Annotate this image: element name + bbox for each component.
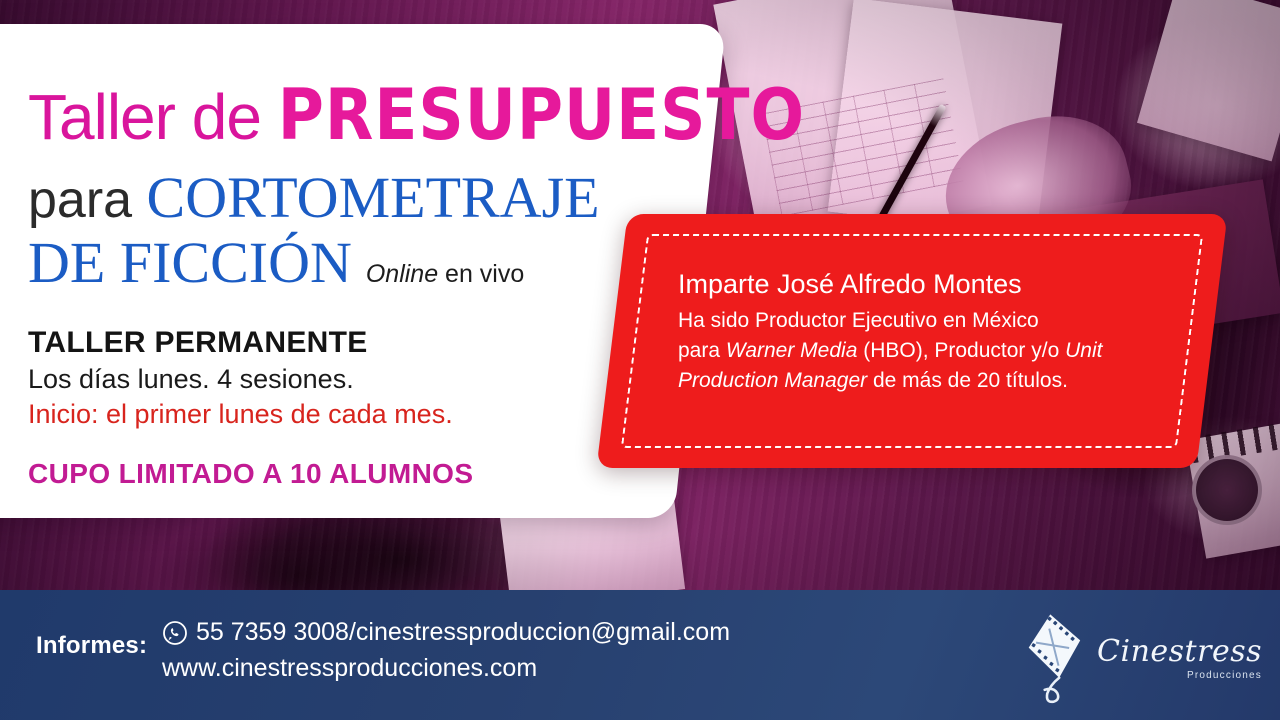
workshop-details: TALLER PERMANENTE Los días lunes. 4 sesi… xyxy=(28,324,473,490)
poster-banner: Taller de PRESUPUESTO para CORTOMETRAJE … xyxy=(0,0,1280,720)
kite-film-strip-icon xyxy=(1019,608,1091,709)
contact-phone[interactable]: 55 7359 3008 xyxy=(196,615,349,651)
title-online: Online xyxy=(366,260,438,288)
instructor-name: Imparte José Alfredo Montes xyxy=(678,268,1146,300)
title-cortometraje: CORTOMETRAJE xyxy=(147,165,600,230)
logo-subtitle: Producciones xyxy=(1097,670,1262,681)
title-taller-de: Taller de xyxy=(28,81,278,153)
detail-dias-sesiones: Los días lunes. 4 sesiones. xyxy=(28,362,473,397)
instructor-bio-titulos: de más de 20 títulos. xyxy=(867,369,1068,392)
cinestress-logo[interactable]: Cinestress Producciones xyxy=(1019,608,1262,709)
footer-bar: Informes: 55 7359 3008 / cinestressprodu… xyxy=(0,590,1280,720)
instructor-bio-production-manager: Production Manager xyxy=(678,369,867,392)
contact-info: 55 7359 3008 / cinestressproduccion@gmai… xyxy=(162,615,730,686)
instructor-bio-warner-media: Warner Media xyxy=(726,339,858,362)
contact-row-phone-email: 55 7359 3008 / cinestressproduccion@gmai… xyxy=(162,615,730,651)
detail-taller-permanente: TALLER PERMANENTE xyxy=(28,324,473,362)
title-para: para xyxy=(28,171,147,229)
instructor-bio-unit: Unit xyxy=(1065,339,1102,362)
contact-row-website: www.cinestressproducciones.com xyxy=(162,651,730,687)
contact-separator: / xyxy=(349,615,356,651)
title-de-ficcion: DE FICCIÓN xyxy=(28,230,352,295)
title-line-1: Taller de PRESUPUESTO xyxy=(28,80,805,150)
instructor-bio-hbo: (HBO), Productor y/o xyxy=(857,339,1065,362)
detail-inicio: Inicio: el primer lunes de cada mes. xyxy=(28,397,473,432)
contact-website[interactable]: www.cinestressproducciones.com xyxy=(162,651,537,687)
instructor-bio-line-1: Ha sido Productor Ejecutivo en México xyxy=(678,309,1039,332)
logo-text-block: Cinestress Producciones xyxy=(1097,637,1262,681)
logo-name: Cinestress xyxy=(1097,637,1262,667)
instructor-bio: Ha sido Productor Ejecutivo en México pa… xyxy=(678,306,1146,395)
title-line-3: DE FICCIÓNOnline en vivo xyxy=(28,234,524,292)
headline-block: Taller de PRESUPUESTO para CORTOMETRAJE … xyxy=(0,24,700,518)
contact-email[interactable]: cinestressproduccion@gmail.com xyxy=(356,615,730,651)
detail-cupo-limitado: CUPO LIMITADO A 10 ALUMNOS xyxy=(28,458,473,490)
informes-label: Informes: xyxy=(36,632,147,660)
title-en-vivo: en vivo xyxy=(438,260,524,288)
whatsapp-icon xyxy=(162,620,188,646)
instructor-text-block: Imparte José Alfredo Montes Ha sido Prod… xyxy=(678,268,1146,396)
instructor-bio-para: para xyxy=(678,339,726,362)
title-line-2: para CORTOMETRAJE xyxy=(28,169,600,227)
title-presupuesto: PRESUPUESTO xyxy=(278,74,805,156)
